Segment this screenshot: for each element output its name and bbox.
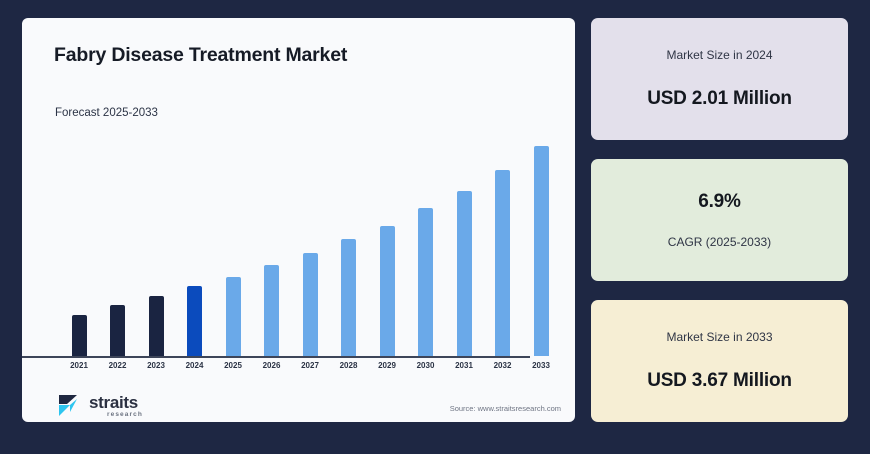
stat-card-label: CAGR (2025-2033): [668, 235, 771, 249]
bar-slot: [291, 128, 329, 356]
bar-slot: [60, 128, 98, 356]
bar-2033: [534, 146, 549, 356]
x-label-2030: 2030: [407, 361, 445, 370]
bar-2021: [72, 315, 87, 356]
stat-card-market-size-2033: Market Size in 2033USD 3.67 Million: [591, 300, 848, 422]
bar-2022: [110, 305, 125, 356]
bar-slot: [330, 128, 368, 356]
bar-2030: [418, 208, 433, 356]
logo-subtext: research: [107, 412, 143, 419]
x-label-2031: 2031: [445, 361, 483, 370]
bar-2029: [380, 226, 395, 356]
logo-wordmark: straits: [89, 394, 138, 411]
stat-card-cagr: 6.9%CAGR (2025-2033): [591, 159, 848, 281]
bar-slot: [407, 128, 445, 356]
x-label-2032: 2032: [484, 361, 522, 370]
x-label-2026: 2026: [253, 361, 291, 370]
stat-card-value: USD 3.67 Million: [647, 370, 792, 392]
x-axis-line: [22, 356, 530, 358]
infographic-root: Fabry Disease Treatment Market Forecast …: [0, 0, 870, 454]
x-label-2024: 2024: [176, 361, 214, 370]
stat-card-label: Market Size in 2024: [666, 48, 772, 62]
bar-2031: [457, 191, 472, 356]
bar-slot: [522, 128, 560, 356]
stat-card-value: 6.9%: [698, 191, 741, 213]
straits-research-logo: straits research: [58, 393, 143, 419]
stat-card-label: Market Size in 2033: [666, 330, 772, 344]
bar-slot: [137, 128, 175, 356]
bar-chart-plot: [60, 128, 560, 356]
bar-2025: [226, 277, 241, 356]
bar-slot: [445, 128, 483, 356]
chart-subtitle: Forecast 2025-2033: [55, 107, 158, 119]
stat-cards: Market Size in 2024USD 2.01 Million6.9%C…: [591, 18, 848, 422]
bar-slot: [368, 128, 406, 356]
x-label-2033: 2033: [522, 361, 560, 370]
source-attribution: Source: www.straitsresearch.com: [450, 404, 561, 413]
logo-text: straits research: [89, 394, 143, 419]
bar-slot: [253, 128, 291, 356]
bar-slot: [484, 128, 522, 356]
x-label-2022: 2022: [99, 361, 137, 370]
page-title: Fabry Disease Treatment Market: [54, 44, 347, 67]
bar-slot: [176, 128, 214, 356]
bar-2024: [187, 286, 202, 356]
x-label-2023: 2023: [137, 361, 175, 370]
x-label-2027: 2027: [291, 361, 329, 370]
bar-2032: [495, 170, 510, 356]
stat-card-value: USD 2.01 Million: [647, 88, 792, 110]
chart-panel: Fabry Disease Treatment Market Forecast …: [22, 18, 575, 422]
bar-2026: [264, 265, 279, 356]
bar-slot: [99, 128, 137, 356]
stat-card-market-size-2024: Market Size in 2024USD 2.01 Million: [591, 18, 848, 140]
straits-logo-mark: [58, 393, 84, 419]
x-label-2025: 2025: [214, 361, 252, 370]
x-label-2029: 2029: [368, 361, 406, 370]
bar-2023: [149, 296, 164, 356]
x-label-2028: 2028: [330, 361, 368, 370]
x-label-2021: 2021: [60, 361, 98, 370]
bar-2028: [341, 239, 356, 356]
bar-slot: [214, 128, 252, 356]
bar-series: [60, 128, 560, 356]
bar-2027: [303, 253, 318, 356]
x-axis-labels: 2021202220232024202520262027202820292030…: [60, 361, 560, 370]
